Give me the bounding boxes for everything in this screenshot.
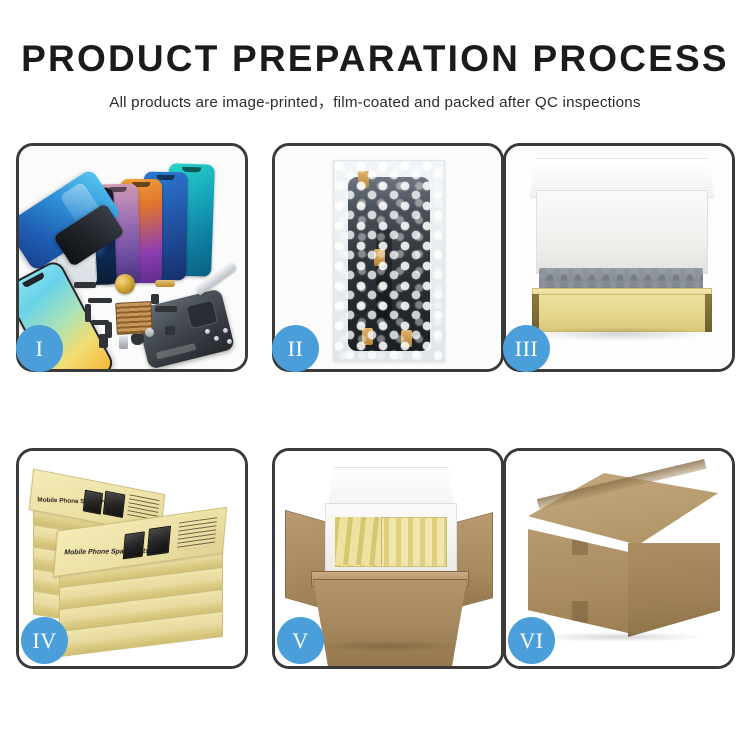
process-step-grid: I II bbox=[16, 143, 735, 677]
screw-part bbox=[214, 336, 219, 341]
camera-module-part bbox=[131, 334, 144, 345]
step-panel-1[interactable]: I bbox=[16, 143, 248, 372]
small-component-part bbox=[165, 326, 175, 335]
step-badge-1: I bbox=[16, 325, 63, 372]
step-badge-5: V bbox=[277, 617, 324, 664]
step-badge-6: VI bbox=[508, 617, 555, 664]
screws-group bbox=[205, 327, 235, 347]
bubble-texture-overlay bbox=[334, 161, 444, 361]
phone-notch bbox=[157, 175, 176, 180]
screw-part bbox=[205, 329, 210, 334]
header: PRODUCT PREPARATION PROCESS All products… bbox=[0, 0, 750, 112]
page-title: PRODUCT PREPARATION PROCESS bbox=[0, 0, 750, 79]
box-side bbox=[60, 626, 222, 656]
step-badge-3: III bbox=[503, 325, 550, 372]
carton-body bbox=[313, 579, 467, 666]
step-panel-6[interactable]: VI bbox=[503, 448, 735, 669]
drop-shadow bbox=[313, 640, 463, 652]
carton-tape-mark bbox=[572, 601, 588, 623]
bubble-wrap-bag bbox=[333, 160, 445, 362]
step-badge-2: II bbox=[272, 325, 319, 372]
label-phone-image bbox=[123, 531, 145, 559]
screw-part bbox=[223, 328, 228, 333]
box-lid-inner-panel bbox=[536, 190, 708, 274]
metal-bracket-part bbox=[119, 336, 128, 349]
label-phone-image bbox=[103, 491, 126, 518]
step-panel-2[interactable]: II bbox=[272, 143, 504, 372]
label-phone-image bbox=[83, 490, 103, 515]
small-component-part bbox=[151, 294, 159, 304]
sim-tray-part bbox=[99, 334, 108, 348]
flex-cable-part bbox=[155, 306, 177, 312]
screw-part bbox=[227, 339, 232, 344]
flex-cable-part bbox=[85, 304, 91, 322]
drop-shadow bbox=[534, 632, 704, 642]
phone-notch bbox=[22, 272, 45, 288]
page-subtitle: All products are image-printed，film-coat… bbox=[0, 79, 750, 112]
product-preparation-infographic: PRODUCT PREPARATION PROCESS All products… bbox=[0, 0, 750, 750]
phone-notch bbox=[182, 167, 201, 173]
step-panel-5[interactable]: V bbox=[272, 448, 504, 669]
step-panel-3[interactable]: III bbox=[503, 143, 735, 372]
speaker-coil-part bbox=[115, 274, 135, 294]
flex-cable-part bbox=[74, 282, 96, 288]
step-panel-4[interactable]: Mobile Phone Spare Parts Mobile Phone Sp… bbox=[16, 448, 248, 669]
label-phone-image bbox=[147, 526, 171, 556]
label-spec-lines bbox=[177, 517, 217, 551]
yellow-boxes-inside-left bbox=[335, 517, 382, 565]
step-badge-4: IV bbox=[21, 617, 68, 664]
screw-part bbox=[145, 328, 154, 337]
drop-shadow bbox=[529, 327, 709, 341]
gold-connector-part bbox=[155, 280, 175, 287]
flex-cable-part bbox=[88, 298, 112, 303]
